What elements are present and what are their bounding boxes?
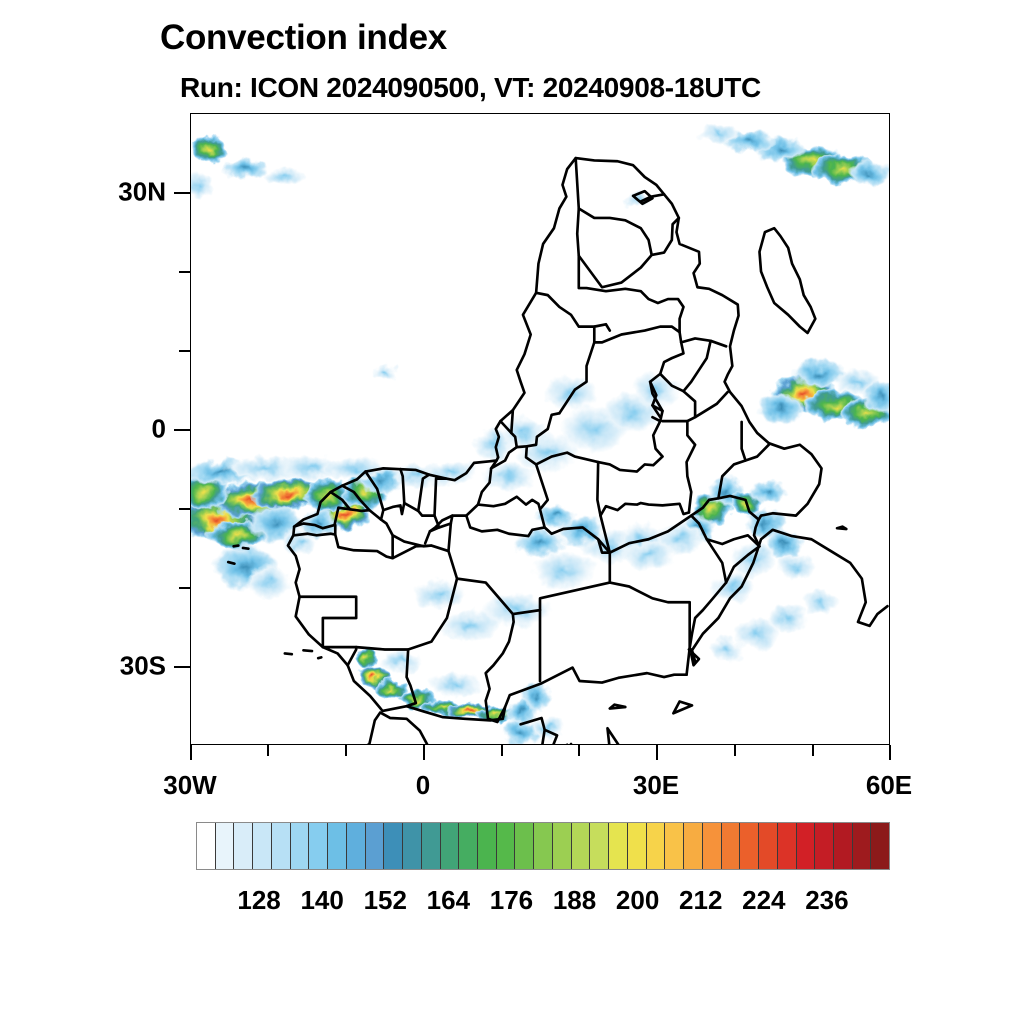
y-tick-10n (179, 350, 190, 352)
colorbar-label-224: 224 (742, 885, 785, 916)
x-axis-label-1: 0 (416, 770, 430, 801)
colorbar-label-212: 212 (679, 885, 722, 916)
x-tick-40e (734, 745, 736, 756)
page-title: Convection index (160, 18, 447, 58)
y-axis-labels: 30N 0 30S (0, 0, 166, 1024)
colorbar-cell-21 (590, 823, 609, 869)
colorbar-cell-14 (459, 823, 478, 869)
colorbar-cell-29 (740, 823, 759, 869)
x-tick-30e (656, 745, 658, 760)
colorbar-cell-8 (347, 823, 366, 869)
map-plot-area (190, 113, 890, 745)
colorbar-cell-9 (366, 823, 385, 869)
x-tick-20w (267, 745, 269, 756)
colorbar-label-176: 176 (490, 885, 533, 916)
x-tick-0 (423, 745, 425, 760)
colorbar-cell-2 (234, 823, 253, 869)
x-tick-10e (501, 745, 503, 756)
x-tick-10w (345, 745, 347, 756)
y-tick-0 (174, 429, 190, 431)
colorbar-cell-16 (497, 823, 516, 869)
colorbar-cell-19 (553, 823, 572, 869)
x-axis-label-2: 30E (633, 770, 679, 801)
colorbar-cell-26 (684, 823, 703, 869)
colorbar-cell-3 (253, 823, 272, 869)
colorbar-cell-27 (703, 823, 722, 869)
colorbar-label-128: 128 (237, 885, 280, 916)
y-tick-20n (179, 271, 190, 273)
colorbar-cell-23 (628, 823, 647, 869)
colorbar-cell-22 (609, 823, 628, 869)
colorbar-label-188: 188 (553, 885, 596, 916)
colorbar-cell-4 (272, 823, 291, 869)
africa-map (191, 114, 889, 744)
colorbar-label-164: 164 (427, 885, 470, 916)
colorbar-cell-30 (759, 823, 778, 869)
y-tick-10s (179, 508, 190, 510)
colorbar-label-236: 236 (805, 885, 848, 916)
colorbar-cell-34 (834, 823, 853, 869)
x-tick-30w (190, 745, 192, 760)
colorbar (196, 822, 890, 870)
colorbar-cell-10 (384, 823, 403, 869)
x-tick-60e (889, 745, 891, 760)
x-axis-label-0: 30W (163, 770, 216, 801)
colorbar-cell-11 (403, 823, 422, 869)
colorbar-cell-31 (778, 823, 797, 869)
colorbar-cell-15 (478, 823, 497, 869)
colorbar-cell-35 (853, 823, 872, 869)
colorbar-cell-17 (515, 823, 534, 869)
y-axis-label-2: 30S (120, 651, 166, 682)
colorbar-cell-18 (534, 823, 553, 869)
page-subtitle: Run: ICON 2024090500, VT: 20240908-18UTC (180, 72, 761, 104)
x-tick-50e (812, 745, 814, 756)
y-tick-30s (174, 666, 190, 668)
colorbar-cell-7 (328, 823, 347, 869)
colorbar-label-152: 152 (364, 885, 407, 916)
y-tick-30n (174, 192, 190, 194)
colorbar-cell-28 (722, 823, 741, 869)
colorbar-cell-32 (797, 823, 816, 869)
colorbar-label-200: 200 (616, 885, 659, 916)
colorbar-cell-5 (291, 823, 310, 869)
colorbar-cell-6 (309, 823, 328, 869)
colorbar-cell-24 (647, 823, 666, 869)
colorbar-label-140: 140 (300, 885, 343, 916)
x-axis-label-3: 60E (866, 770, 912, 801)
colorbar-cell-13 (441, 823, 460, 869)
y-axis-label-1: 0 (152, 414, 166, 445)
colorbar-cell-12 (422, 823, 441, 869)
colorbar-cell-25 (665, 823, 684, 869)
x-tick-20e (578, 745, 580, 756)
colorbar-cell-33 (815, 823, 834, 869)
colorbar-cell-0 (197, 823, 216, 869)
colorbar-cell-36 (871, 823, 889, 869)
y-tick-20s (179, 587, 190, 589)
colorbar-cell-1 (216, 823, 235, 869)
y-axis-label-0: 30N (118, 177, 166, 208)
colorbar-cell-20 (572, 823, 591, 869)
